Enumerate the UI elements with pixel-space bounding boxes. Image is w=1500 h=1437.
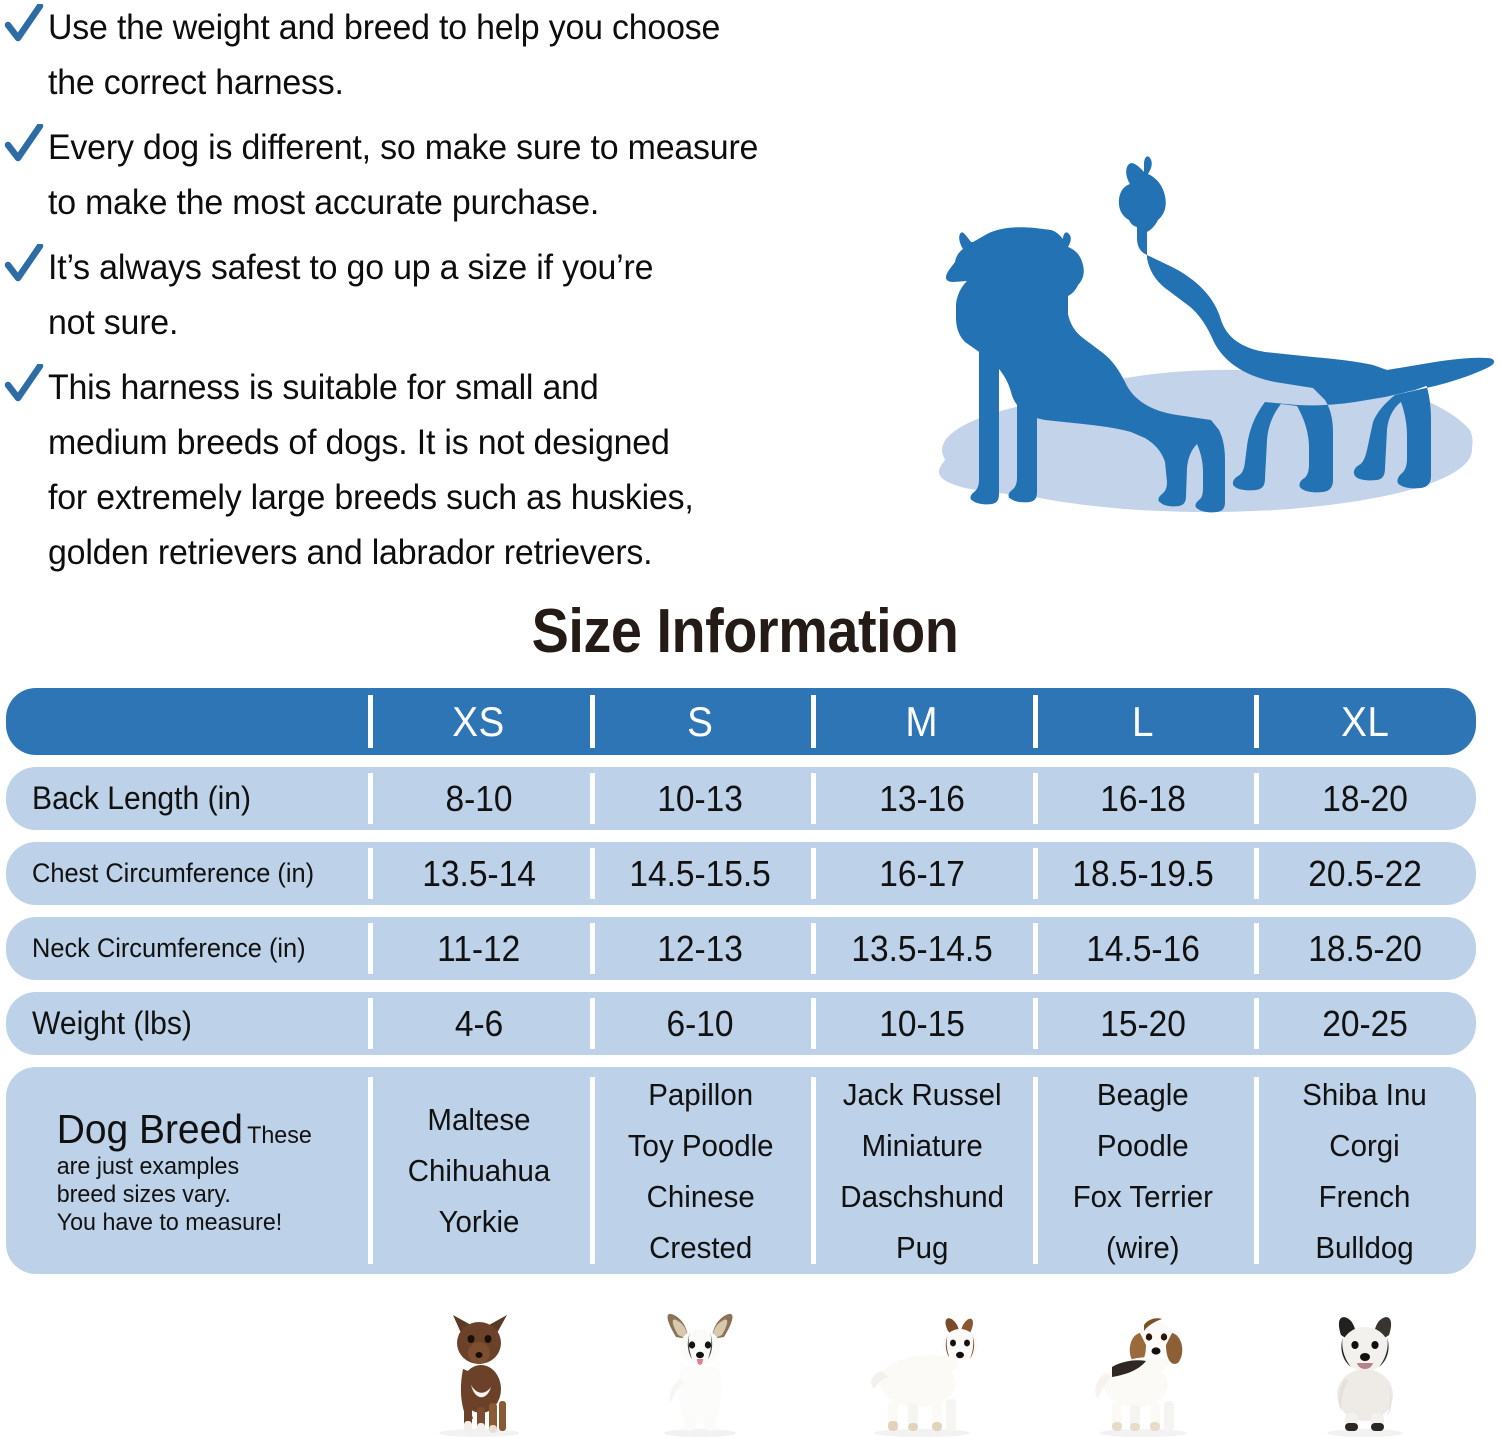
tips-list: Use the weight and breed to help you cho… xyxy=(0,0,960,590)
row-label: Neck Circumference (in) xyxy=(32,933,306,964)
cell-weight-xl: 20-25 xyxy=(1254,992,1476,1055)
cell-value: 10-13 xyxy=(657,778,743,820)
breed-list: Maltese Chihuahua Yorkie xyxy=(408,1094,550,1247)
cell-value: 16-18 xyxy=(1100,778,1186,820)
french-bulldog-photo xyxy=(1254,1292,1476,1437)
header-cell-xs: XS xyxy=(368,688,590,755)
breed-list: Jack Russel Miniature Daschshund Pug xyxy=(840,1069,1004,1273)
cell-neck-xl: 18.5-20 xyxy=(1254,917,1476,980)
cell-back-length-xs: 8-10 xyxy=(368,767,590,830)
cell-value: 18.5-19.5 xyxy=(1073,853,1214,895)
photo-row-spacer xyxy=(6,1292,368,1437)
table-row-weight: Weight (lbs) 4-6 6-10 10-15 15-20 20-25 xyxy=(6,992,1476,1055)
cell-value: 20-25 xyxy=(1322,1003,1408,1045)
beagle-photo xyxy=(1033,1292,1255,1437)
table-row-back-length: Back Length (in) 8-10 10-13 13-16 16-18 … xyxy=(6,767,1476,830)
breed-list: Shiba Inu Corgi French Bulldog xyxy=(1303,1069,1427,1273)
cell-neck-m: 13.5-14.5 xyxy=(811,917,1033,980)
header-cell-s: S xyxy=(590,688,812,755)
cell-weight-l: 15-20 xyxy=(1033,992,1255,1055)
check-icon xyxy=(0,358,48,412)
header-label: M xyxy=(905,698,938,746)
cell-value: 6-10 xyxy=(667,1003,734,1045)
breed-list: Papillon Toy Poodle Chinese Crested xyxy=(627,1069,773,1273)
cell-breed-s: Papillon Toy Poodle Chinese Crested xyxy=(590,1067,812,1274)
breed-list: Beagle Poodle Fox Terrier (wire) xyxy=(1073,1069,1213,1273)
cell-value: 18.5-20 xyxy=(1308,928,1422,970)
table-row-neck-circumference: Neck Circumference (in) 11-12 12-13 13.5… xyxy=(6,917,1476,980)
cell-back-length-xl: 18-20 xyxy=(1254,767,1476,830)
header-label: L xyxy=(1132,698,1154,746)
papillon-photo xyxy=(590,1292,812,1437)
header-label: XL xyxy=(1341,698,1389,746)
row-label: Weight (lbs) xyxy=(32,1005,192,1042)
cell-value: 12-13 xyxy=(657,928,743,970)
breed-photo-row xyxy=(6,1292,1476,1437)
cell-weight-xs: 4-6 xyxy=(368,992,590,1055)
header-label: S xyxy=(687,698,713,746)
header-cell-m: M xyxy=(811,688,1033,755)
header-corner-cell xyxy=(6,688,368,755)
cell-value: 13.5-14 xyxy=(422,853,536,895)
cell-value: 13.5-14.5 xyxy=(851,928,992,970)
cell-back-length-m: 13-16 xyxy=(811,767,1033,830)
cell-back-length-l: 16-18 xyxy=(1033,767,1255,830)
check-icon xyxy=(0,238,48,292)
cell-value: 8-10 xyxy=(445,778,512,820)
cell-weight-s: 6-10 xyxy=(590,992,812,1055)
cell-value: 11-12 xyxy=(437,928,520,970)
row-label: Back Length (in) xyxy=(32,780,251,817)
breed-label-cell: Dog Breed These are just examples breed … xyxy=(6,1067,368,1274)
cell-neck-s: 12-13 xyxy=(590,917,812,980)
cell-value: 10-15 xyxy=(879,1003,965,1045)
cell-value: 16-17 xyxy=(879,853,965,895)
size-information-table: XS S M L XL Back Length (in) 8-10 10-13 … xyxy=(6,688,1476,1286)
cell-chest-l: 18.5-19.5 xyxy=(1033,842,1255,905)
tip-item: Use the weight and breed to help you cho… xyxy=(0,0,960,110)
cell-weight-m: 10-15 xyxy=(811,992,1033,1055)
tip-text: Every dog is different, so make sure to … xyxy=(48,120,758,230)
cell-value: 14.5-15.5 xyxy=(630,853,771,895)
header-cell-l: L xyxy=(1033,688,1255,755)
cell-neck-xs: 11-12 xyxy=(368,917,590,980)
page-title: Size Information xyxy=(75,596,1416,667)
row-label-cell: Back Length (in) xyxy=(6,767,368,830)
tip-text: It’s always safest to go up a size if yo… xyxy=(48,240,653,350)
cell-breed-l: Beagle Poodle Fox Terrier (wire) xyxy=(1033,1067,1255,1274)
cell-value: 14.5-16 xyxy=(1086,928,1200,970)
cell-value: 18-20 xyxy=(1322,778,1408,820)
chihuahua-photo xyxy=(368,1292,590,1437)
table-row-chest-circumference: Chest Circumference (in) 13.5-14 14.5-15… xyxy=(6,842,1476,905)
row-label-cell: Chest Circumference (in) xyxy=(6,842,368,905)
cell-breed-xl: Shiba Inu Corgi French Bulldog xyxy=(1254,1067,1476,1274)
breed-row-title: Dog Breed xyxy=(57,1106,243,1152)
two-dogs-silhouette-illustration xyxy=(915,120,1500,520)
tip-item: Every dog is different, so make sure to … xyxy=(0,120,960,230)
header-label: XS xyxy=(453,698,505,746)
check-icon xyxy=(0,118,48,172)
cell-chest-m: 16-17 xyxy=(811,842,1033,905)
cell-value: 4-6 xyxy=(455,1003,503,1045)
check-icon xyxy=(0,0,48,52)
cell-chest-xs: 13.5-14 xyxy=(368,842,590,905)
cell-back-length-s: 10-13 xyxy=(590,767,812,830)
cell-chest-s: 14.5-15.5 xyxy=(590,842,812,905)
cell-value: 20.5-22 xyxy=(1308,853,1422,895)
jack-russel-photo xyxy=(811,1292,1033,1437)
cell-chest-xl: 20.5-22 xyxy=(1254,842,1476,905)
row-label-cell: Weight (lbs) xyxy=(6,992,368,1055)
row-label-cell: Neck Circumference (in) xyxy=(6,917,368,980)
tip-text: This harness is suitable for small and m… xyxy=(48,360,694,580)
cell-value: 15-20 xyxy=(1100,1003,1186,1045)
row-label: Chest Circumference (in) xyxy=(32,858,314,889)
cell-value: 13-16 xyxy=(879,778,965,820)
cell-breed-m: Jack Russel Miniature Daschshund Pug xyxy=(811,1067,1033,1274)
tip-text: Use the weight and breed to help you cho… xyxy=(48,0,720,110)
table-row-dog-breed: Dog Breed These are just examples breed … xyxy=(6,1067,1476,1274)
header-cell-xl: XL xyxy=(1254,688,1476,755)
tip-item: This harness is suitable for small and m… xyxy=(0,360,960,580)
table-header-row: XS S M L XL xyxy=(6,688,1476,755)
cell-breed-xs: Maltese Chihuahua Yorkie xyxy=(368,1067,590,1274)
cell-neck-l: 14.5-16 xyxy=(1033,917,1255,980)
tip-item: It’s always safest to go up a size if yo… xyxy=(0,240,960,350)
